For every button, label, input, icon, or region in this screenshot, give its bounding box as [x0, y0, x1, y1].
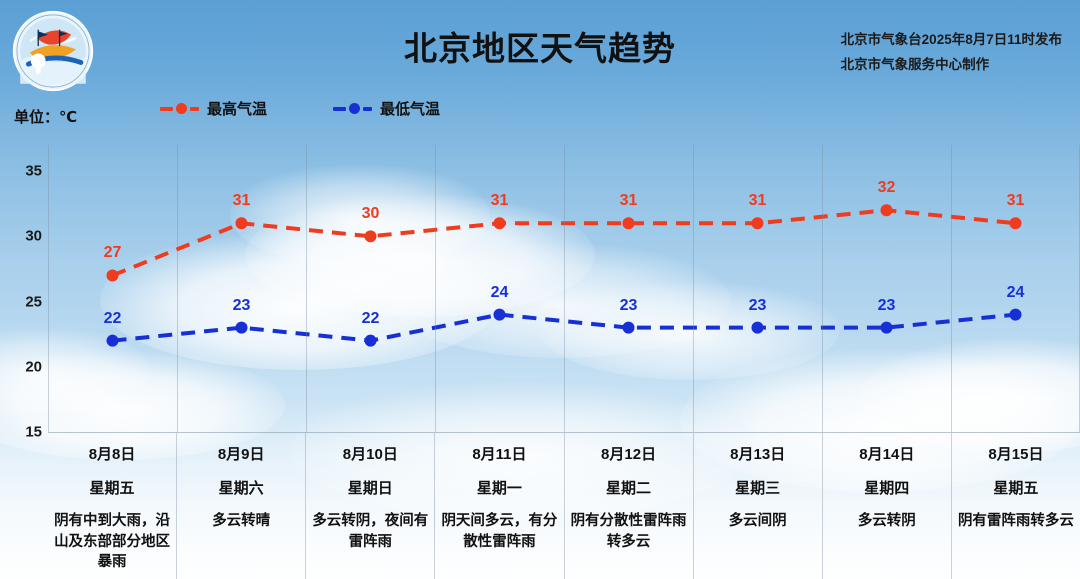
- forecast-weekday: 星期五: [958, 477, 1074, 498]
- forecast-description: 多云转阴，夜间有雷阵雨: [312, 511, 428, 552]
- data-point: [881, 322, 893, 334]
- y-axis: 1520253035: [0, 145, 48, 432]
- data-point-label: 30: [362, 205, 380, 223]
- data-point-label: 23: [620, 297, 638, 315]
- forecast-date: 8月13日: [700, 443, 816, 464]
- forecast-description: 阴有雷阵雨转多云: [958, 511, 1074, 532]
- forecast-description: 阴有分散性雷阵雨转多云: [571, 511, 687, 552]
- legend-label-high: 最高气温: [207, 98, 267, 119]
- grid-line-vertical: [564, 145, 565, 432]
- legend-item-low: 最低气温: [333, 98, 440, 119]
- unit-label: 单位：℃: [14, 106, 77, 127]
- data-point: [236, 322, 248, 334]
- data-point: [494, 309, 506, 321]
- issue-info: 北京市气象台2025年8月7日11时发布 北京市气象服务中心制作: [841, 28, 1062, 78]
- forecast-column: 8月10日星期日多云转阴，夜间有雷阵雨: [305, 433, 434, 579]
- data-point: [107, 269, 119, 281]
- data-point: [623, 217, 635, 229]
- forecast-column: 8月13日星期三多云间阴: [693, 433, 822, 579]
- data-point: [752, 322, 764, 334]
- data-point: [236, 217, 248, 229]
- forecast-date: 8月15日: [958, 443, 1074, 464]
- legend-item-high: 最高气温: [160, 98, 267, 119]
- y-axis-tick: 30: [25, 228, 42, 245]
- temperature-chart: 27313031313132312223222423232324: [48, 145, 1080, 432]
- forecast-date: 8月12日: [571, 443, 687, 464]
- forecast-description: 阴天间多云，有分散性雷阵雨: [441, 511, 557, 552]
- forecast-table: 8月8日星期五阴有中到大雨，沿山及东部部分地区暴雨8月9日星期六多云转晴8月10…: [48, 433, 1080, 579]
- data-point-label: 22: [362, 310, 380, 328]
- data-point-label: 31: [233, 192, 251, 210]
- forecast-date: 8月10日: [312, 443, 428, 464]
- forecast-column: 8月8日星期五阴有中到大雨，沿山及东部部分地区暴雨: [48, 433, 176, 579]
- forecast-column: 8月15日星期五阴有雷阵雨转多云: [951, 433, 1080, 579]
- legend-swatch-low: [333, 103, 372, 114]
- forecast-date: 8月14日: [829, 443, 945, 464]
- grid-line-vertical: [435, 145, 436, 432]
- forecast-weekday: 星期二: [571, 477, 687, 498]
- data-point: [623, 322, 635, 334]
- forecast-weekday: 星期六: [183, 477, 299, 498]
- forecast-date: 8月8日: [54, 443, 170, 464]
- legend-swatch-high: [160, 103, 199, 114]
- data-point-label: 31: [491, 192, 509, 210]
- chart-legend: 最高气温 最低气温: [160, 98, 440, 119]
- data-point-label: 27: [104, 244, 122, 262]
- grid-line-vertical: [177, 145, 178, 432]
- data-point: [494, 217, 506, 229]
- data-point-label: 23: [749, 297, 767, 315]
- issue-line-1: 北京市气象台2025年8月7日11时发布: [841, 28, 1062, 53]
- issue-line-2: 北京市气象服务中心制作: [841, 53, 1062, 78]
- grid-line-vertical: [306, 145, 307, 432]
- data-point: [107, 335, 119, 347]
- legend-label-low: 最低气温: [380, 98, 440, 119]
- grid-line-vertical: [822, 145, 823, 432]
- forecast-weekday: 星期日: [312, 477, 428, 498]
- forecast-column: 8月11日星期一阴天间多云，有分散性雷阵雨: [434, 433, 563, 579]
- forecast-description: 多云转晴: [183, 511, 299, 532]
- forecast-date: 8月9日: [183, 443, 299, 464]
- grid-line-vertical: [693, 145, 694, 432]
- y-axis-tick: 20: [25, 358, 42, 375]
- data-point-label: 22: [104, 310, 122, 328]
- forecast-column: 8月9日星期六多云转晴: [176, 433, 305, 579]
- data-point-label: 31: [1007, 192, 1025, 210]
- forecast-weekday: 星期四: [829, 477, 945, 498]
- data-point-label: 32: [878, 179, 896, 197]
- forecast-weekday: 星期三: [700, 477, 816, 498]
- data-point: [1010, 309, 1022, 321]
- forecast-description: 阴有中到大雨，沿山及东部部分地区暴雨: [54, 511, 170, 573]
- data-point-label: 24: [1007, 284, 1025, 302]
- forecast-column: 8月14日星期四多云转阴: [822, 433, 951, 579]
- data-point-label: 23: [878, 297, 896, 315]
- forecast-column: 8月12日星期二阴有分散性雷阵雨转多云: [564, 433, 693, 579]
- data-point: [1010, 217, 1022, 229]
- y-axis-tick: 35: [25, 163, 42, 180]
- y-axis-tick: 15: [25, 424, 42, 441]
- grid-line-vertical: [951, 145, 952, 432]
- forecast-weekday: 星期五: [54, 477, 170, 498]
- data-point: [365, 230, 377, 242]
- forecast-description: 多云间阴: [700, 511, 816, 532]
- forecast-description: 多云转阴: [829, 511, 945, 532]
- data-point: [752, 217, 764, 229]
- data-point: [365, 335, 377, 347]
- data-point-label: 31: [620, 192, 638, 210]
- data-point-label: 23: [233, 297, 251, 315]
- grid-line-vertical: [48, 145, 49, 432]
- forecast-weekday: 星期一: [441, 477, 557, 498]
- data-point-label: 24: [491, 284, 509, 302]
- data-point: [881, 204, 893, 216]
- forecast-date: 8月11日: [441, 443, 557, 464]
- y-axis-tick: 25: [25, 293, 42, 310]
- data-point-label: 31: [749, 192, 767, 210]
